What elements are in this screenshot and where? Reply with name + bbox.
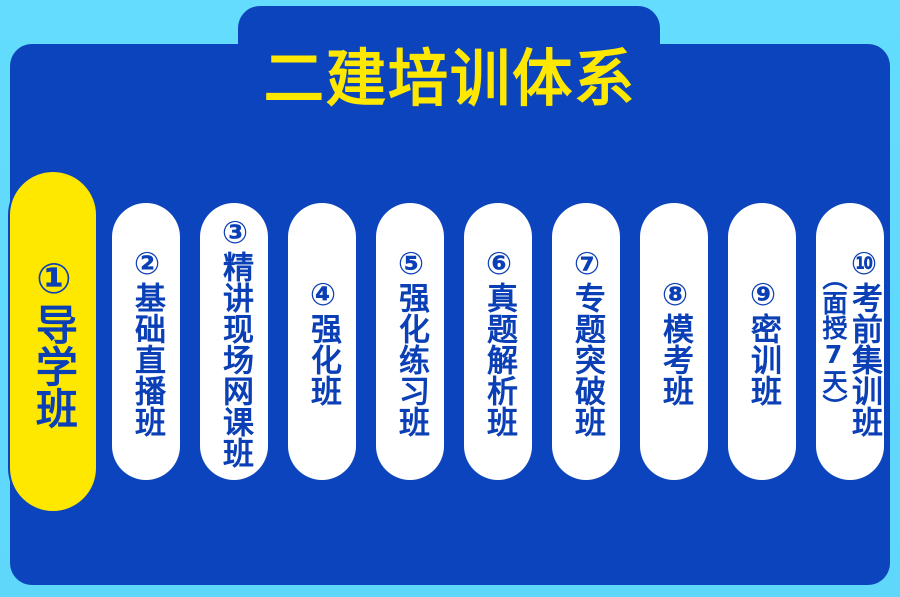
step-pill-2[interactable]: ②基础直播班 <box>112 203 180 480</box>
step-label-8: ⑧模考班 <box>658 277 690 406</box>
step-sublabel-10: （面授7天） <box>821 265 846 419</box>
step-label-3: ③精讲现场网课班 <box>218 215 250 468</box>
step-label-6: ⑥真题解析班 <box>482 246 514 437</box>
step-label-9: ⑨密训班 <box>746 277 778 406</box>
step-pill-5[interactable]: ⑤强化练习班 <box>376 203 444 480</box>
page-title: 二建培训体系 <box>14 48 887 110</box>
step-pill-10[interactable]: ⑩考前集训班 （面授7天） <box>816 203 884 480</box>
step-pill-9[interactable]: ⑨密训班 <box>728 203 796 480</box>
step-pill-8[interactable]: ⑧模考班 <box>640 203 708 480</box>
poster-root: 二建培训体系 ①导学班 ②基础直播班 ③精讲现场网课班 ④强化班 ⑤强化练习班 … <box>0 0 900 597</box>
step-pill-3[interactable]: ③精讲现场网课班 <box>200 203 268 480</box>
step-pill-7[interactable]: ⑦专题突破班 <box>552 203 620 480</box>
step-label-7: ⑦专题突破班 <box>570 246 602 437</box>
step-pill-1[interactable]: ①导学班 <box>8 170 98 513</box>
step-pill-6[interactable]: ⑥真题解析班 <box>464 203 532 480</box>
step-pill-4[interactable]: ④强化班 <box>288 203 356 480</box>
step-label-4: ④强化班 <box>306 277 338 406</box>
step-label-10: ⑩考前集训班 <box>847 246 879 437</box>
step-label-5: ⑤强化练习班 <box>394 246 426 437</box>
training-step-rail: ①导学班 ②基础直播班 ③精讲现场网课班 ④强化班 ⑤强化练习班 ⑥真题解析班 … <box>8 170 892 515</box>
step-label-1: ①导学班 <box>32 254 75 429</box>
step-label-2: ②基础直播班 <box>130 246 162 437</box>
